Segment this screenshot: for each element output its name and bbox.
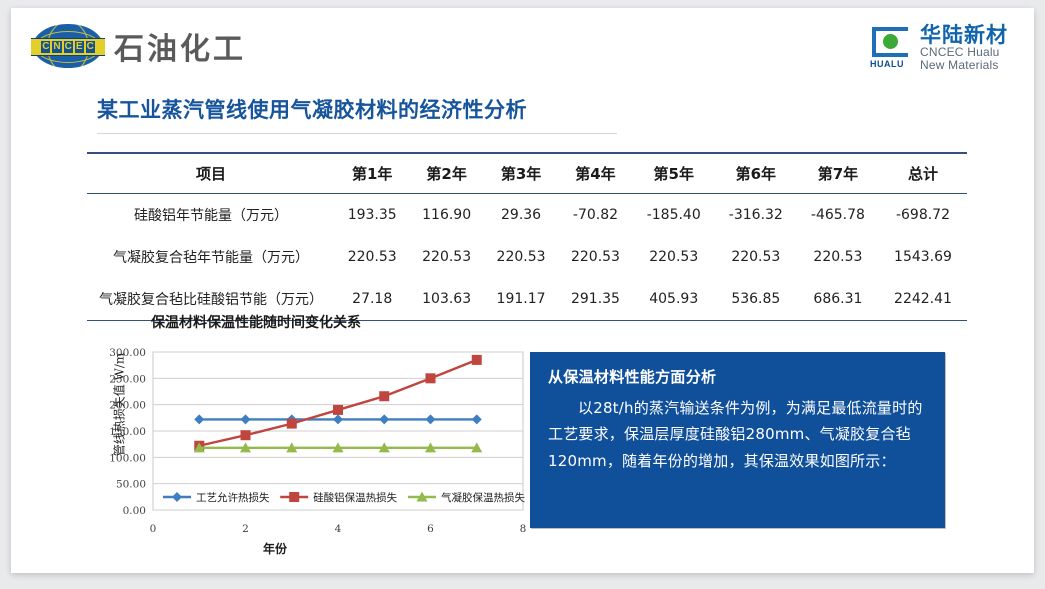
hualu-brand-cn: 华陆新材	[920, 24, 1008, 46]
slide-header: C N C E C 石油化工 HUALU 华陆新材 CNCEC Hualu Ne…	[11, 8, 1034, 76]
cell-value: -316.32	[715, 194, 797, 237]
hualu-logo: HUALU 华陆新材 CNCEC Hualu New Materials	[870, 24, 1008, 71]
chart-plot-area: 0.0050.00100.00150.00200.00250.00300.000…	[91, 344, 531, 544]
chart-legend-label: 硅酸铝保温热损失	[313, 491, 397, 504]
table-row: 硅酸铝年节能量（万元） 193.35 116.90 29.36 -70.82 -…	[87, 194, 967, 237]
hualu-mark-icon: HUALU	[870, 27, 912, 69]
hualu-mark-word: HUALU	[870, 59, 904, 69]
title-block: 某工业蒸汽管线使用气凝胶材料的经济性分析	[97, 94, 617, 134]
cell-value: 220.53	[558, 236, 632, 278]
analysis-panel-heading: 从保温材料性能方面分析	[548, 366, 927, 387]
chart-series	[194, 442, 483, 452]
cell-value: 29.36	[484, 194, 558, 237]
chart-data-point	[472, 355, 482, 365]
chart-data-point	[379, 391, 389, 401]
chart-legend-label: 工艺允许热损失	[196, 491, 270, 504]
chart-data-point	[241, 414, 251, 424]
col-header-total: 总计	[879, 153, 967, 194]
cell-value: 220.53	[797, 236, 879, 278]
chart-y-tick: 200.00	[109, 400, 146, 412]
cncec-letter: C	[41, 41, 50, 53]
chart-x-tick: 0	[150, 523, 157, 535]
chart-data-point	[426, 373, 436, 383]
col-header-year3: 第3年	[484, 153, 558, 194]
cncec-letter: N	[52, 41, 61, 53]
cncec-letter: E	[75, 41, 84, 53]
chart-legend-label: 气凝胶保温热损失	[441, 491, 525, 504]
cell-value: 291.35	[558, 278, 632, 321]
slide-canvas: C N C E C 石油化工 HUALU 华陆新材 CNCEC Hualu Ne…	[11, 8, 1034, 573]
col-header-year7: 第7年	[797, 153, 879, 194]
hualu-brand-en-line2: New Materials	[920, 59, 1008, 72]
chart-x-tick: 2	[242, 523, 249, 535]
row-label: 硅酸铝年节能量（万元）	[87, 194, 335, 237]
chart-data-point	[426, 414, 436, 424]
chart-title: 保温材料保温性能随时间变化关系	[151, 312, 361, 332]
chart-data-point	[333, 405, 343, 415]
line-chart: 保温材料保温性能随时间变化关系 管线热损失值 W/m 年份 0.0050.001…	[73, 312, 533, 562]
chart-legend: 工艺允许热损失硅酸铝保温热损失气凝胶保温热损失	[163, 491, 525, 504]
cncec-logo: C N C E C 石油化工	[33, 24, 246, 68]
cell-value: 220.53	[715, 236, 797, 278]
cell-value: 686.31	[797, 278, 879, 321]
cell-value: 220.53	[633, 236, 715, 278]
cell-value: 1543.69	[879, 236, 967, 278]
col-header-year5: 第5年	[633, 153, 715, 194]
cncec-letter: C	[64, 41, 73, 53]
hualu-brand-en-line1: CNCEC Hualu	[920, 46, 1008, 59]
chart-series	[194, 414, 482, 424]
cell-value: -465.78	[797, 194, 879, 237]
chart-series	[194, 355, 482, 451]
page-title: 某工业蒸汽管线使用气凝胶材料的经济性分析	[97, 94, 617, 124]
chart-y-tick: 150.00	[109, 426, 146, 438]
cell-value: -185.40	[633, 194, 715, 237]
chart-data-point	[333, 414, 343, 424]
col-header-item: 项目	[87, 153, 335, 194]
cell-value: 2242.41	[879, 278, 967, 321]
chart-data-point	[472, 414, 482, 424]
table-body: 硅酸铝年节能量（万元） 193.35 116.90 29.36 -70.82 -…	[87, 194, 967, 321]
cell-value: 220.53	[335, 236, 409, 278]
cncec-brand-cn: 石油化工	[114, 24, 246, 68]
row-label: 气凝胶复合毡年节能量（万元）	[87, 236, 335, 278]
chart-data-point	[287, 419, 297, 429]
table-row: 气凝胶复合毡年节能量（万元） 220.53 220.53 220.53 220.…	[87, 236, 967, 278]
cell-value: 536.85	[715, 278, 797, 321]
chart-y-tick: 250.00	[109, 373, 146, 385]
table-header-row: 项目 第1年 第2年 第3年 第4年 第5年 第6年 第7年 总计	[87, 153, 967, 194]
col-header-year4: 第4年	[558, 153, 632, 194]
cell-value: 405.93	[633, 278, 715, 321]
cell-value: 193.35	[335, 194, 409, 237]
chart-y-tick: 300.00	[109, 347, 146, 359]
chart-x-tick: 8	[520, 523, 527, 535]
cell-value: -70.82	[558, 194, 632, 237]
analysis-panel-body: 以28t/h的蒸汽输送条件为例，为满足最低流量时的工艺要求，保温层厚度硅酸铝28…	[548, 395, 927, 474]
chart-data-point	[241, 430, 251, 440]
chart-x-tick: 4	[335, 523, 342, 535]
chart-data-point	[194, 414, 204, 424]
col-header-year2: 第2年	[409, 153, 483, 194]
cncec-letter: C	[86, 41, 95, 53]
chart-y-tick: 50.00	[116, 479, 146, 491]
analysis-panel: 从保温材料性能方面分析 以28t/h的蒸汽输送条件为例，为满足最低流量时的工艺要…	[530, 352, 945, 528]
chart-data-point	[172, 492, 182, 502]
cell-value: 220.53	[484, 236, 558, 278]
economics-table: 项目 第1年 第2年 第3年 第4年 第5年 第6年 第7年 总计 硅酸铝年节能…	[87, 152, 967, 321]
chart-y-tick: 100.00	[109, 452, 146, 464]
cell-value: -698.72	[879, 194, 967, 237]
chart-y-tick: 0.00	[123, 505, 146, 517]
chart-x-tick: 6	[427, 523, 434, 535]
chart-data-point	[289, 492, 299, 502]
cell-value: 220.53	[409, 236, 483, 278]
cell-value: 116.90	[409, 194, 483, 237]
col-header-year1: 第1年	[335, 153, 409, 194]
title-divider	[97, 133, 617, 134]
cncec-wordmark: C N C E C	[31, 38, 105, 56]
chart-data-point	[379, 414, 389, 424]
col-header-year6: 第6年	[715, 153, 797, 194]
table-header: 项目 第1年 第2年 第3年 第4年 第5年 第6年 第7年 总计	[87, 153, 967, 194]
cncec-globe-icon: C N C E C	[33, 24, 103, 68]
